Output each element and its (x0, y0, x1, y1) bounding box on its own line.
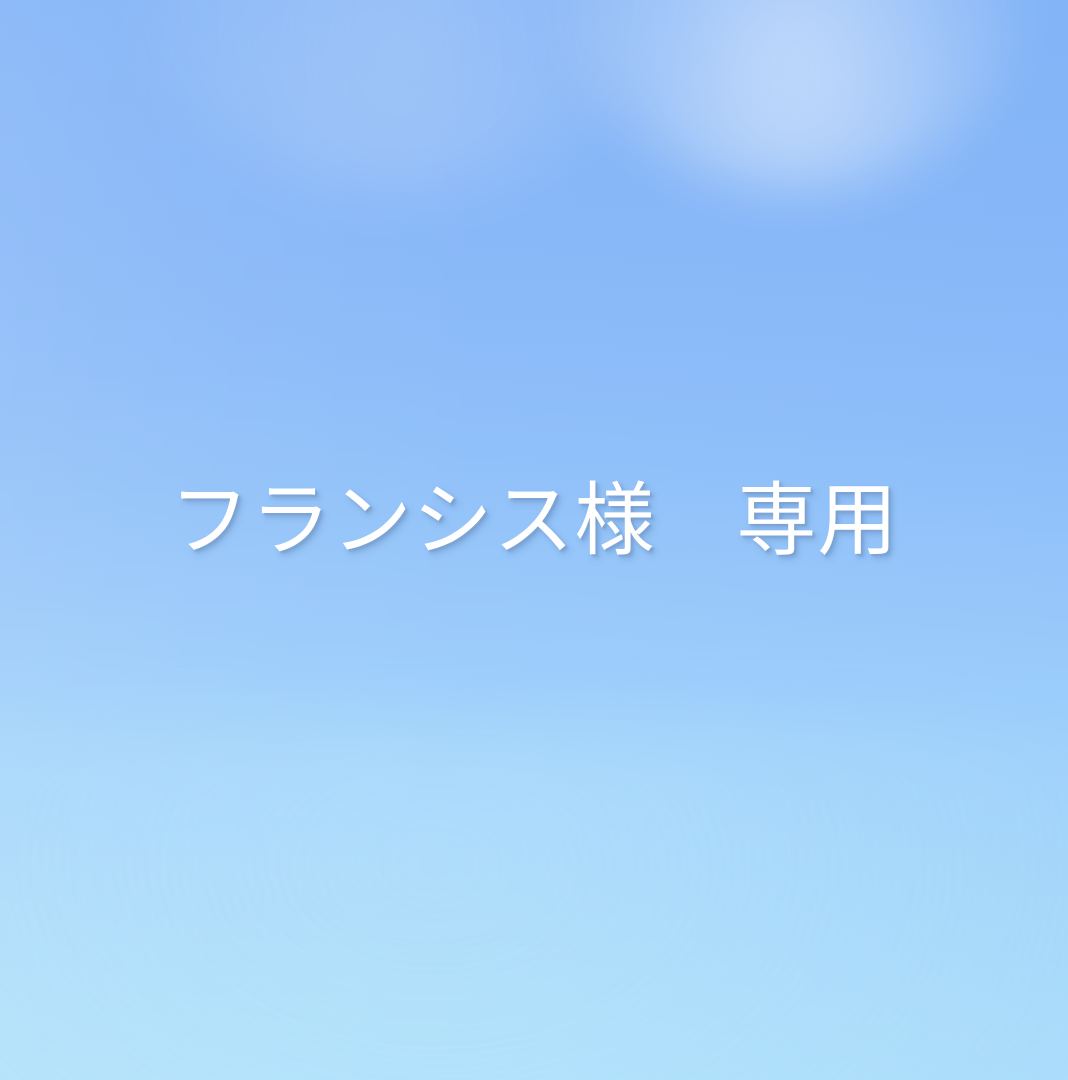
reserved-for-customer-caption: フランシス様 専用 (164, 479, 905, 564)
listing-placeholder-image: フランシス様 専用 (0, 0, 1068, 1080)
caption-layer: フランシス様 専用 (0, 0, 1068, 1080)
